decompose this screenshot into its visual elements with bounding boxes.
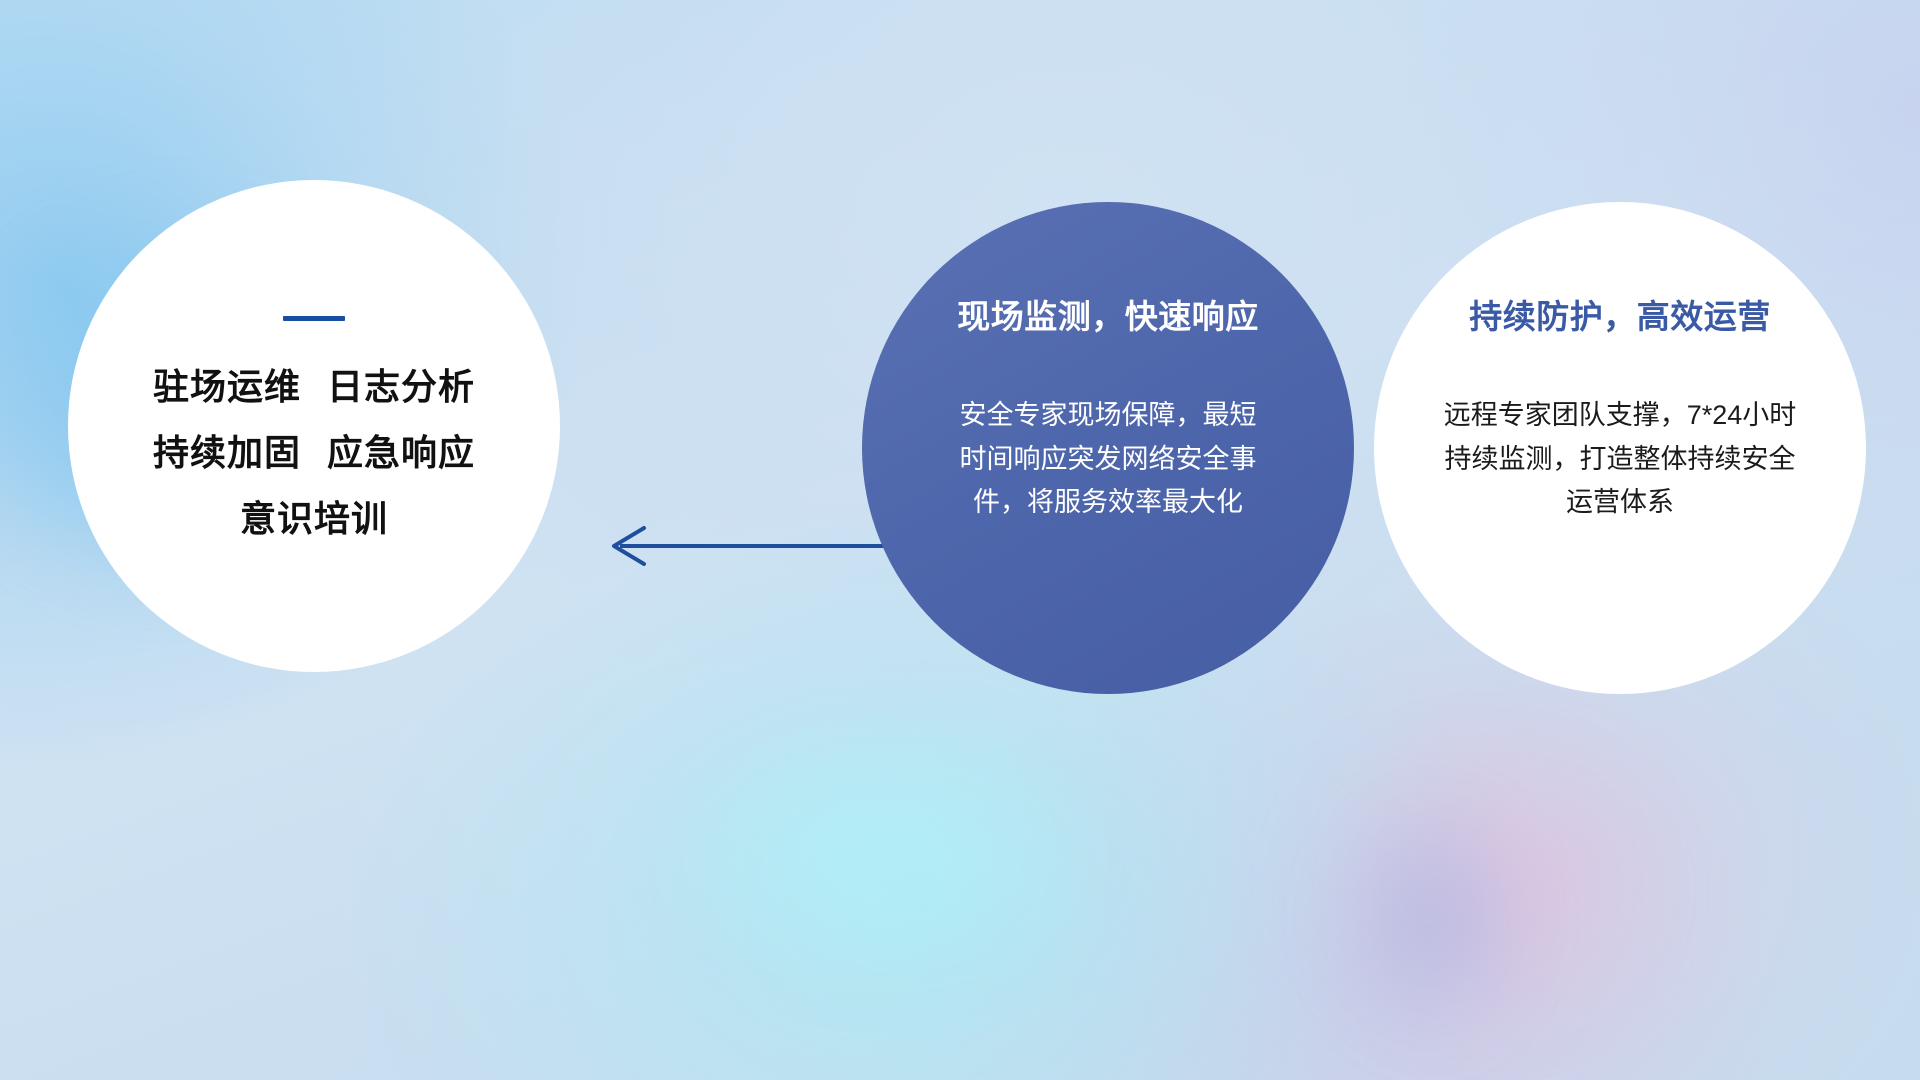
left-circle-line-3: 意识培训 (240, 501, 388, 537)
background-glow-cyan (560, 640, 1200, 1060)
left-circle-line-2: 持续加固应急响应 (153, 435, 475, 471)
left-capability-circle[interactable]: 驻场运维日志分析 持续加固应急响应 意识培训 (68, 180, 560, 672)
right-continuous-protection-circle[interactable]: 持续防护，高效运营 远程专家团队支撑，7*24小时持续监测，打造整体持续安全运营… (1374, 202, 1866, 694)
middle-onsite-monitoring-circle[interactable]: 现场监测，快速响应 安全专家现场保障，最短时间响应突发网络安全事件，将服务效率最… (862, 202, 1354, 694)
left-circle-content: 驻场运维日志分析 持续加固应急响应 意识培训 (68, 180, 560, 672)
left-item-rizhifenxi: 日志分析 (327, 366, 475, 407)
blue-dash-divider-icon (283, 316, 345, 321)
background-glow-pink (1220, 660, 1740, 1080)
left-item-yishipeixun: 意识培训 (240, 498, 388, 539)
left-item-yingjixiangying: 应急响应 (327, 432, 475, 473)
middle-circle-content: 现场监测，快速响应 安全专家现场保障，最短时间响应突发网络安全事件，将服务效率最… (862, 202, 1354, 694)
left-item-zhuchangyunwei: 驻场运维 (153, 366, 301, 407)
right-circle-body: 远程专家团队支撑，7*24小时持续监测，打造整体持续安全运营体系 (1436, 394, 1804, 525)
right-circle-title: 持续防护，高效运营 (1469, 290, 1771, 338)
middle-circle-body: 安全专家现场保障，最短时间响应突发网络安全事件，将服务效率最大化 (958, 394, 1258, 525)
background-glow-violet (1280, 740, 1580, 1080)
left-item-chixujiagu: 持续加固 (153, 432, 301, 473)
middle-circle-title: 现场监测，快速响应 (957, 290, 1259, 338)
slide-canvas: 驻场运维日志分析 持续加固应急响应 意识培训 现场监测，快速响应 安全专家现场保… (0, 0, 1920, 1080)
right-circle-content: 持续防护，高效运营 远程专家团队支撑，7*24小时持续监测，打造整体持续安全运营… (1374, 202, 1866, 694)
left-circle-line-1: 驻场运维日志分析 (153, 369, 475, 405)
left-pointing-arrow-icon (600, 516, 890, 576)
